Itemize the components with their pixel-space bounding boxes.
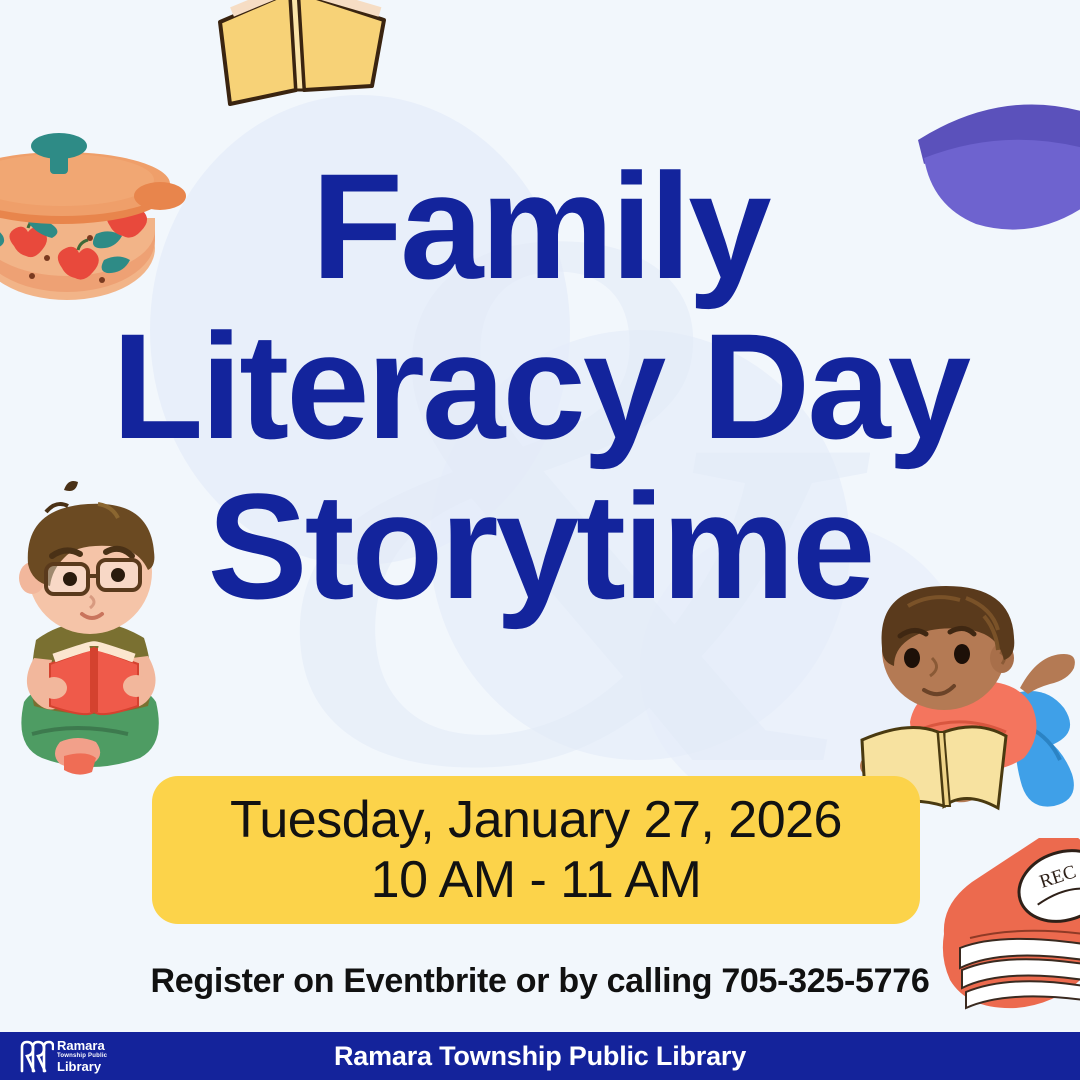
- poster-canvas: &: [0, 0, 1080, 1080]
- title-line-storytime: Storytime: [0, 470, 1080, 622]
- registration-info: Register on Eventbrite or by calling 705…: [0, 962, 1080, 1001]
- title-line-literacy-day: Literacy Day: [0, 310, 1080, 462]
- library-logo: Ramara Township Public Library: [18, 1039, 107, 1073]
- page-title: Family Literacy Day Storytime: [0, 150, 1080, 622]
- library-logo-mark: [18, 1039, 54, 1073]
- event-date: Tuesday, January 27, 2026: [230, 790, 842, 850]
- title-line-family: Family: [0, 150, 1080, 302]
- footer-library-name: Ramara Township Public Library: [0, 1041, 1080, 1072]
- date-time-banner: Tuesday, January 27, 2026 10 AM - 11 AM: [152, 776, 920, 924]
- logo-text-ramara: Ramara: [57, 1039, 107, 1052]
- event-time: 10 AM - 11 AM: [371, 850, 702, 910]
- open-book-icon: [212, 0, 402, 111]
- logo-text-library: Library: [57, 1060, 107, 1073]
- footer-bar: Ramara Township Public Library Ramara To…: [0, 1032, 1080, 1080]
